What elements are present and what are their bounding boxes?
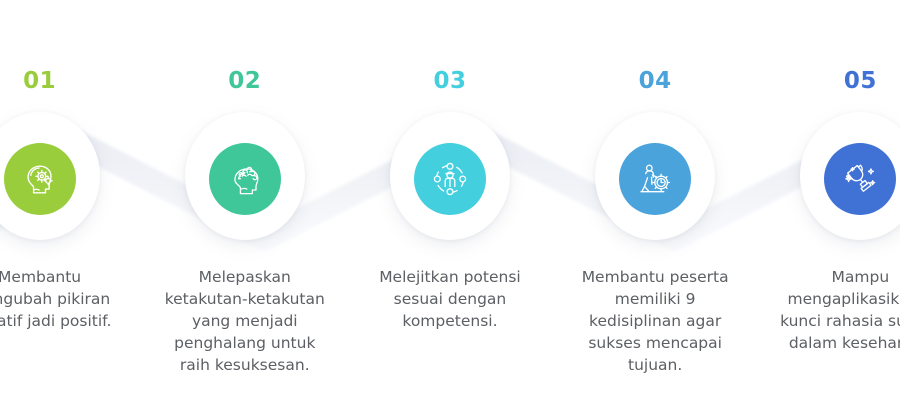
steps-row: 01 Membantu mengubah pikiran xyxy=(0,0,900,402)
step-item-1[interactable]: 01 Membantu mengubah pikiran xyxy=(0,0,142,402)
infographic-canvas: 01 Membantu mengubah pikiran xyxy=(0,0,900,402)
step-description-2: Melepaskan ketakutan-ketakutan yang menj… xyxy=(155,266,335,376)
step-item-3[interactable]: 03 Melejitkan po xyxy=(347,0,552,402)
step-disc-1[interactable] xyxy=(4,143,76,215)
person-pushing-gear-clock-icon xyxy=(634,158,676,200)
step-description-1: Membantu mengubah pikiran negatif jadi p… xyxy=(0,266,130,332)
person-network-icon xyxy=(429,158,471,200)
head-with-swirls-icon xyxy=(223,157,267,201)
step-number-3: 03 xyxy=(347,70,552,93)
step-number-2: 02 xyxy=(142,70,347,93)
head-with-gears-icon xyxy=(18,157,62,201)
step-item-4[interactable]: 04 xyxy=(553,0,758,402)
step-disc-4[interactable] xyxy=(619,143,691,215)
step-disc-3[interactable] xyxy=(414,143,486,215)
step-disc-2[interactable] xyxy=(209,143,281,215)
step-number-5: 05 xyxy=(758,70,900,93)
trophy-sparkle-icon xyxy=(839,158,881,200)
step-description-4: Membantu peserta memiliki 9 kedisiplinan… xyxy=(565,266,745,376)
step-number-4: 04 xyxy=(553,70,758,93)
step-disc-5[interactable] xyxy=(824,143,896,215)
step-item-2[interactable]: 02 xyxy=(142,0,347,402)
step-item-5[interactable]: 05 xyxy=(758,0,900,402)
step-description-5: Mampu mengaplikasikan 7 kunci rahasia su… xyxy=(770,266,900,354)
step-number-1: 01 xyxy=(0,70,142,93)
step-description-3: Melejitkan potensi sesuai dengan kompete… xyxy=(360,266,540,332)
